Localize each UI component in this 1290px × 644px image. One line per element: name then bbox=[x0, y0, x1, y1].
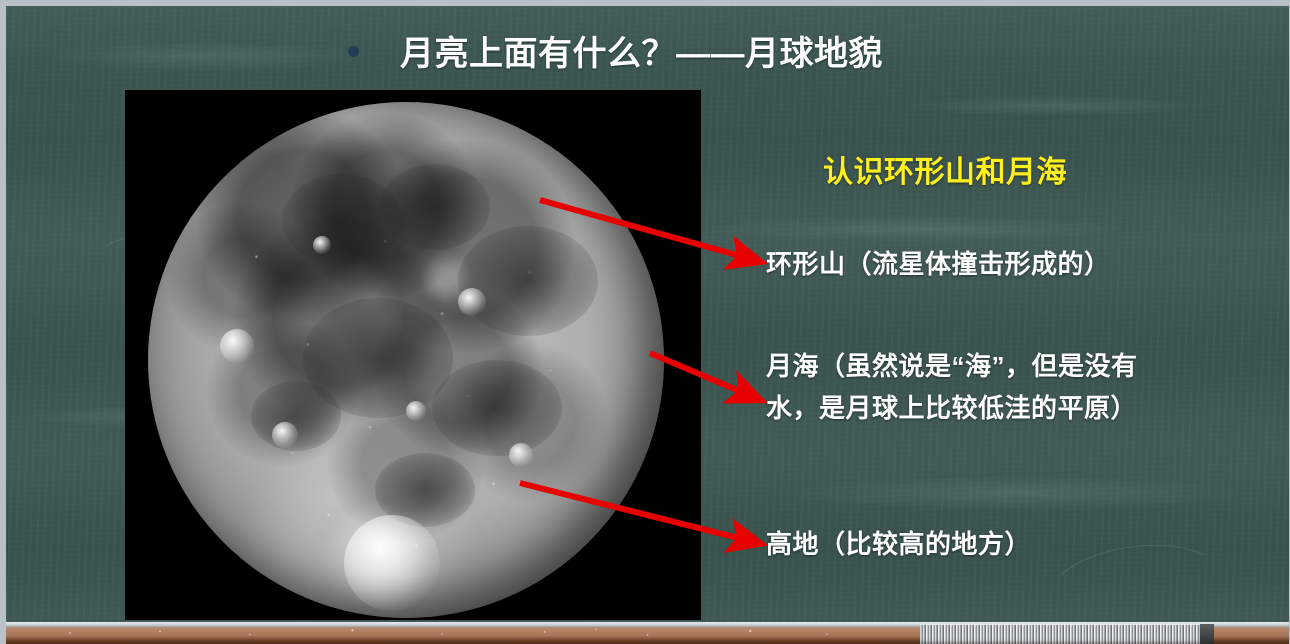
chalk-smudge bbox=[906, 96, 1206, 116]
annotation-label-mare: 月海（虽然说是“海”，但是没有水，是月球上比较低洼的平原） bbox=[766, 345, 1186, 429]
title-bullet-icon bbox=[348, 46, 359, 57]
chalk-smudge bbox=[706, 216, 1126, 242]
section-subheading: 认识环形山和月海 bbox=[823, 147, 1067, 191]
tray-metal-grate bbox=[920, 624, 1200, 644]
mare-region bbox=[432, 360, 562, 456]
moon-speckles bbox=[148, 102, 664, 618]
crater bbox=[458, 288, 486, 316]
slide-canvas: 月亮上面有什么？——月球地貌 认识环形山和月海 环形山（流星体撞击形成的） 月海… bbox=[0, 0, 1290, 644]
mare-region bbox=[458, 226, 598, 336]
annotation-label-highland: 高地（比较高的地方） bbox=[766, 523, 1186, 565]
mare-region bbox=[375, 453, 475, 527]
page-title: 月亮上面有什么？——月球地貌 bbox=[400, 26, 883, 75]
annotation-label-crater: 环形山（流星体撞击形成的） bbox=[766, 243, 1186, 285]
mare-region bbox=[251, 381, 341, 451]
mare-region bbox=[380, 164, 490, 250]
crater bbox=[509, 443, 533, 467]
crater bbox=[406, 401, 426, 421]
chalk-tray bbox=[0, 622, 1290, 644]
mare-region bbox=[303, 298, 453, 418]
mare-region bbox=[282, 174, 402, 266]
moon-image-panel[interactable] bbox=[125, 90, 701, 620]
tray-metal-cap bbox=[1200, 624, 1214, 644]
crater bbox=[272, 422, 298, 448]
crater bbox=[313, 236, 331, 254]
moon-disc bbox=[148, 102, 664, 618]
chalk-smudge bbox=[46, 41, 366, 71]
chalk-smudge bbox=[786, 476, 1246, 510]
crater bbox=[220, 329, 254, 363]
crater-ray-system bbox=[344, 515, 440, 611]
